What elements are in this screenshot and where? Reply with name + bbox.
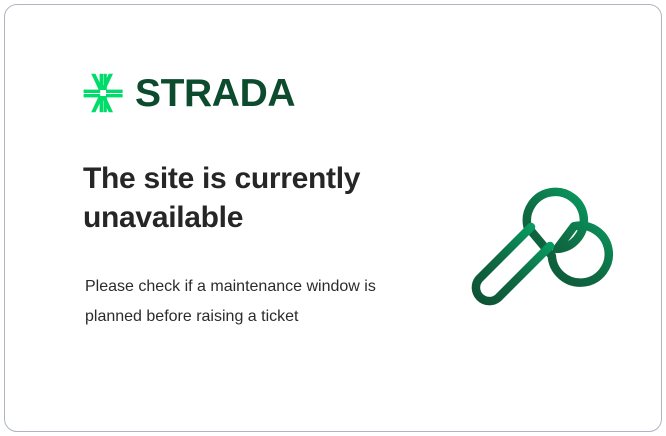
page-description: Please check if a maintenance window is … xyxy=(85,272,385,332)
brand-lockup: STRADA xyxy=(81,71,295,115)
page-title: The site is currently unavailable xyxy=(83,159,413,237)
wrench-illustration xyxy=(457,157,617,317)
status-card: STRADA The site is currently unavailable… xyxy=(4,4,662,432)
strada-asterisk-icon xyxy=(81,71,125,115)
error-page: STRADA The site is currently unavailable… xyxy=(0,0,666,436)
brand-wordmark: STRADA xyxy=(135,74,295,113)
